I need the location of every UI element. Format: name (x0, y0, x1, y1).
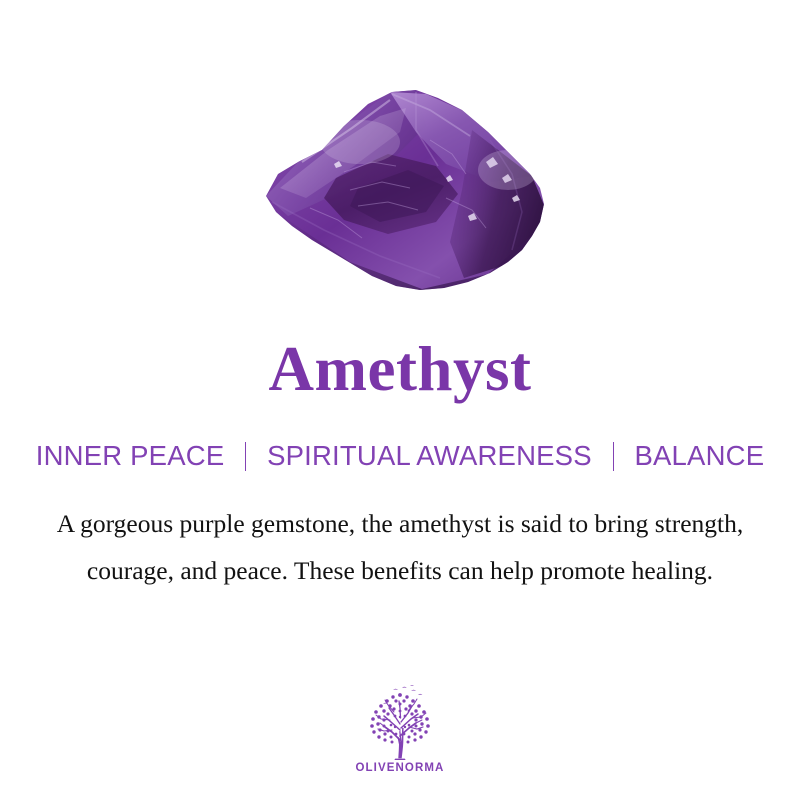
amethyst-crystal-info-card: Amethyst INNER PEACE SPIRITUAL AWARENESS… (0, 0, 800, 800)
tree-of-life-icon (354, 684, 446, 760)
hero-image-stage (0, 0, 800, 320)
keyword-item-3: BALANCE (634, 440, 764, 471)
raw-amethyst-crystal-image (240, 70, 560, 305)
keyword-separator (613, 442, 614, 471)
crystal-body (240, 70, 560, 305)
brand-wordmark: OLIVENORMA (0, 762, 800, 774)
keyword-item-2: SPIRITUAL AWARENESS (267, 440, 592, 471)
page-title: Amethyst (0, 336, 800, 402)
keyword-separator (245, 442, 246, 471)
description-text: A gorgeous purple gemstone, the amethyst… (50, 500, 750, 594)
keyword-list: INNER PEACE SPIRITUAL AWARENESS BALANCE (0, 440, 800, 472)
keyword-item-1: INNER PEACE (36, 440, 225, 471)
brand-logo: OLIVENORMA (0, 684, 800, 774)
